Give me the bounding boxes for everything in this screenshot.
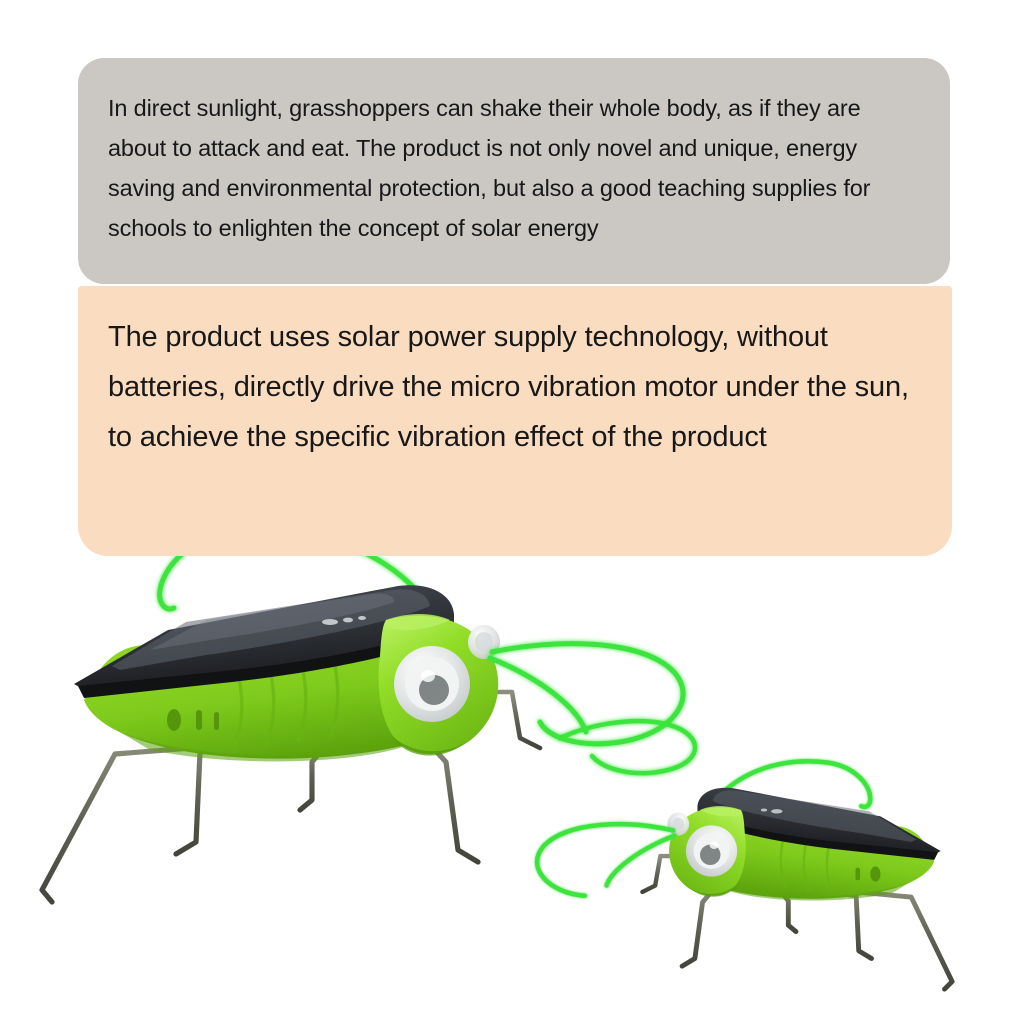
small-grasshopper-eye <box>686 825 737 876</box>
feature-panel: The product uses solar power supply tech… <box>78 286 952 556</box>
description-panel-text: In direct sunlight, grasshoppers can sha… <box>108 88 916 248</box>
large-grasshopper-eye <box>394 646 470 722</box>
feature-panel-text: The product uses solar power supply tech… <box>108 312 922 462</box>
description-panel: In direct sunlight, grasshoppers can sha… <box>78 58 950 284</box>
product-description-page: The product uses solar power supply tech… <box>0 0 1024 1024</box>
